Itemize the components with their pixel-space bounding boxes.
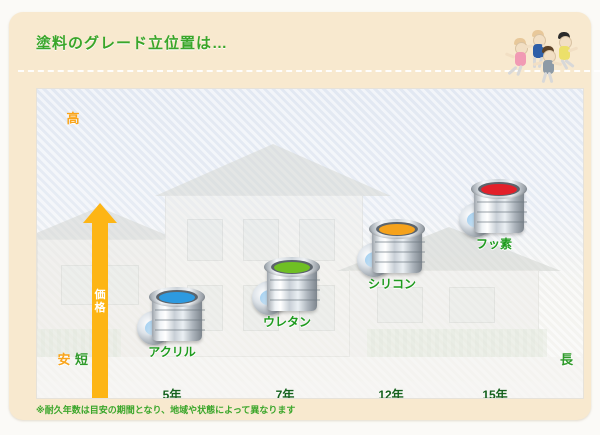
chart-panel: 価格 耐久年数 <box>36 88 584 399</box>
price-axis-arrow: 価格 <box>83 203 117 399</box>
footnote: ※耐久年数は目安の期間となり、地域や状態によって異なります <box>36 403 295 416</box>
durability-short-label: 短 <box>75 349 88 368</box>
paint-can-label: アクリル <box>133 343 211 360</box>
year-label-acrylic: 5年 <box>142 386 202 399</box>
year-label-silicon: 12年 <box>361 386 421 399</box>
screenshot-root: 塗料のグレード立位置は… <box>0 0 600 435</box>
year-label-fluorine: 15年 <box>465 386 525 399</box>
paint-can-icon <box>149 285 205 343</box>
page-title: 塗料のグレード立位置は… <box>36 32 228 53</box>
paint-can-label: ウレタン <box>248 313 326 330</box>
paint-can-label: シリコン <box>353 275 431 292</box>
arrow-up-head <box>83 203 117 223</box>
paint-surface <box>159 292 195 303</box>
year-label-urethane: 7年 <box>255 386 315 399</box>
paint-can-label: フッ素 <box>455 235 533 252</box>
paint-can-icon <box>471 177 527 235</box>
price-axis-label: 価格 <box>92 289 108 315</box>
paint-surface <box>379 224 415 235</box>
paint-surface <box>481 184 517 195</box>
durability-long-label: 長 <box>560 349 573 368</box>
paint-can-icon <box>264 255 320 313</box>
content-card: 塗料のグレード立位置は… <box>9 12 591 420</box>
price-high-label: 高 <box>57 108 89 127</box>
cheering-people-icon <box>506 26 592 72</box>
paint-can-icon <box>369 217 425 275</box>
paint-surface <box>274 262 310 273</box>
